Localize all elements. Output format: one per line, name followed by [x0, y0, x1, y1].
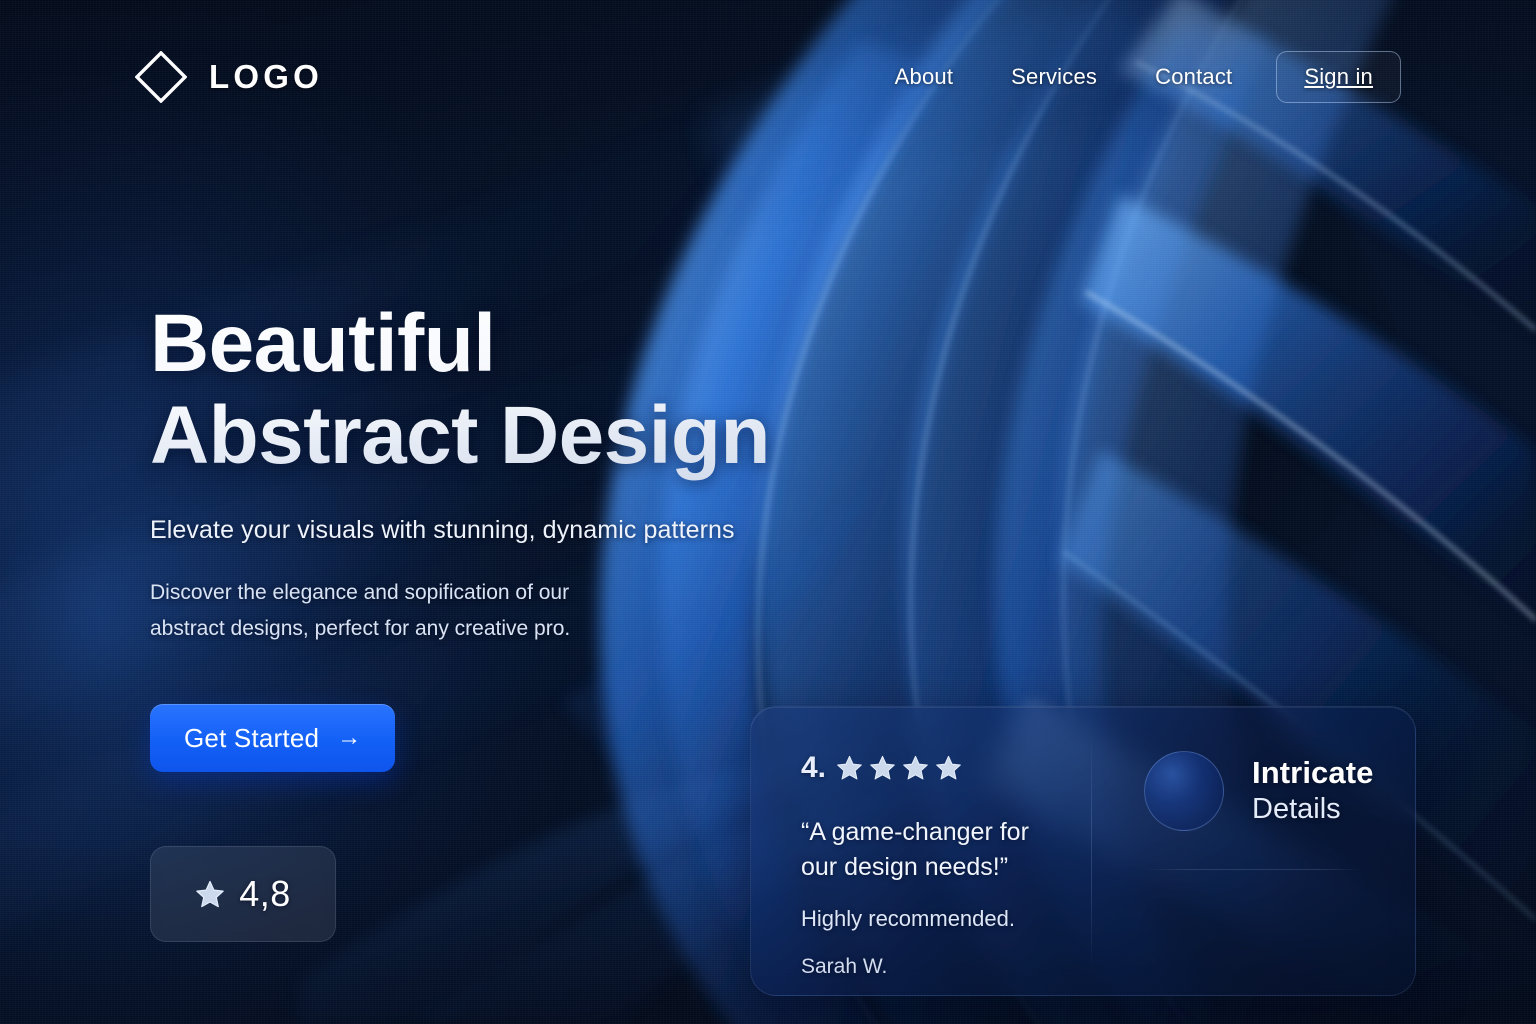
rating-score: 4.	[801, 751, 826, 785]
avatar-circle-icon	[1144, 751, 1224, 831]
nav-link-contact[interactable]: Contact	[1126, 64, 1261, 90]
nav-link-services[interactable]: Services	[982, 64, 1126, 90]
landing-page: LOGO About Services Contact Sign in Beau…	[0, 0, 1536, 1024]
hero-description: Discover the elegance and sopification o…	[150, 575, 670, 647]
star-icon	[869, 755, 896, 781]
hero-description-line-1: Discover the elegance and sopification o…	[150, 575, 670, 611]
title-line-2: Abstract Design	[150, 390, 890, 482]
star-icon	[935, 755, 962, 781]
quote-line-1: “A game-changer for	[801, 815, 1091, 850]
title-line-1: Beautiful	[150, 298, 890, 390]
hero-description-line-2: abstract designs, perfect for any creati…	[150, 611, 670, 647]
nav-link-about[interactable]: About	[866, 64, 983, 90]
testimonial-quote: “A game-changer for our design needs!”	[801, 815, 1091, 885]
testimonial-recommendation: Highly recommended.	[801, 906, 1091, 932]
card-horizontal-divider	[1144, 869, 1363, 870]
feature-row: Intricate Details	[1144, 751, 1415, 831]
star-icon	[902, 755, 929, 781]
get-started-label: Get Started	[184, 723, 319, 754]
brand-name: LOGO	[209, 58, 323, 96]
quote-line-2: our design needs!”	[801, 850, 1091, 885]
page-title: Beautiful Abstract Design	[150, 298, 890, 482]
hero-subtitle: Elevate your visuals with stunning, dyna…	[150, 516, 890, 545]
rating-value: 4,8	[239, 873, 291, 915]
brand-logo[interactable]: LOGO	[135, 51, 323, 103]
feature-text: Intricate Details	[1252, 755, 1374, 828]
rating-badge[interactable]: 4,8	[150, 846, 336, 942]
feature-title: Intricate	[1252, 755, 1374, 792]
testimonial-content: 4. “A game-changer for our design needs!…	[751, 707, 1091, 995]
star-rating: 4.	[801, 751, 1091, 785]
site-header: LOGO About Services Contact Sign in	[0, 0, 1536, 182]
hero-section: Beautiful Abstract Design Elevate your v…	[150, 298, 890, 647]
feature-panel: Intricate Details	[1092, 707, 1415, 995]
diamond-outline-icon	[135, 51, 187, 103]
testimonial-card: 4. “A game-changer for our design needs!…	[750, 706, 1416, 996]
star-icon	[195, 880, 225, 909]
testimonial-author: Sarah W.	[801, 955, 1091, 979]
feature-subtitle: Details	[1252, 791, 1374, 827]
get-started-button[interactable]: Get Started →	[150, 704, 395, 772]
arrow-right-icon: →	[337, 726, 361, 750]
main-navigation: About Services Contact Sign in	[866, 51, 1401, 103]
sign-in-button[interactable]: Sign in	[1276, 51, 1401, 103]
star-icon	[836, 755, 863, 781]
